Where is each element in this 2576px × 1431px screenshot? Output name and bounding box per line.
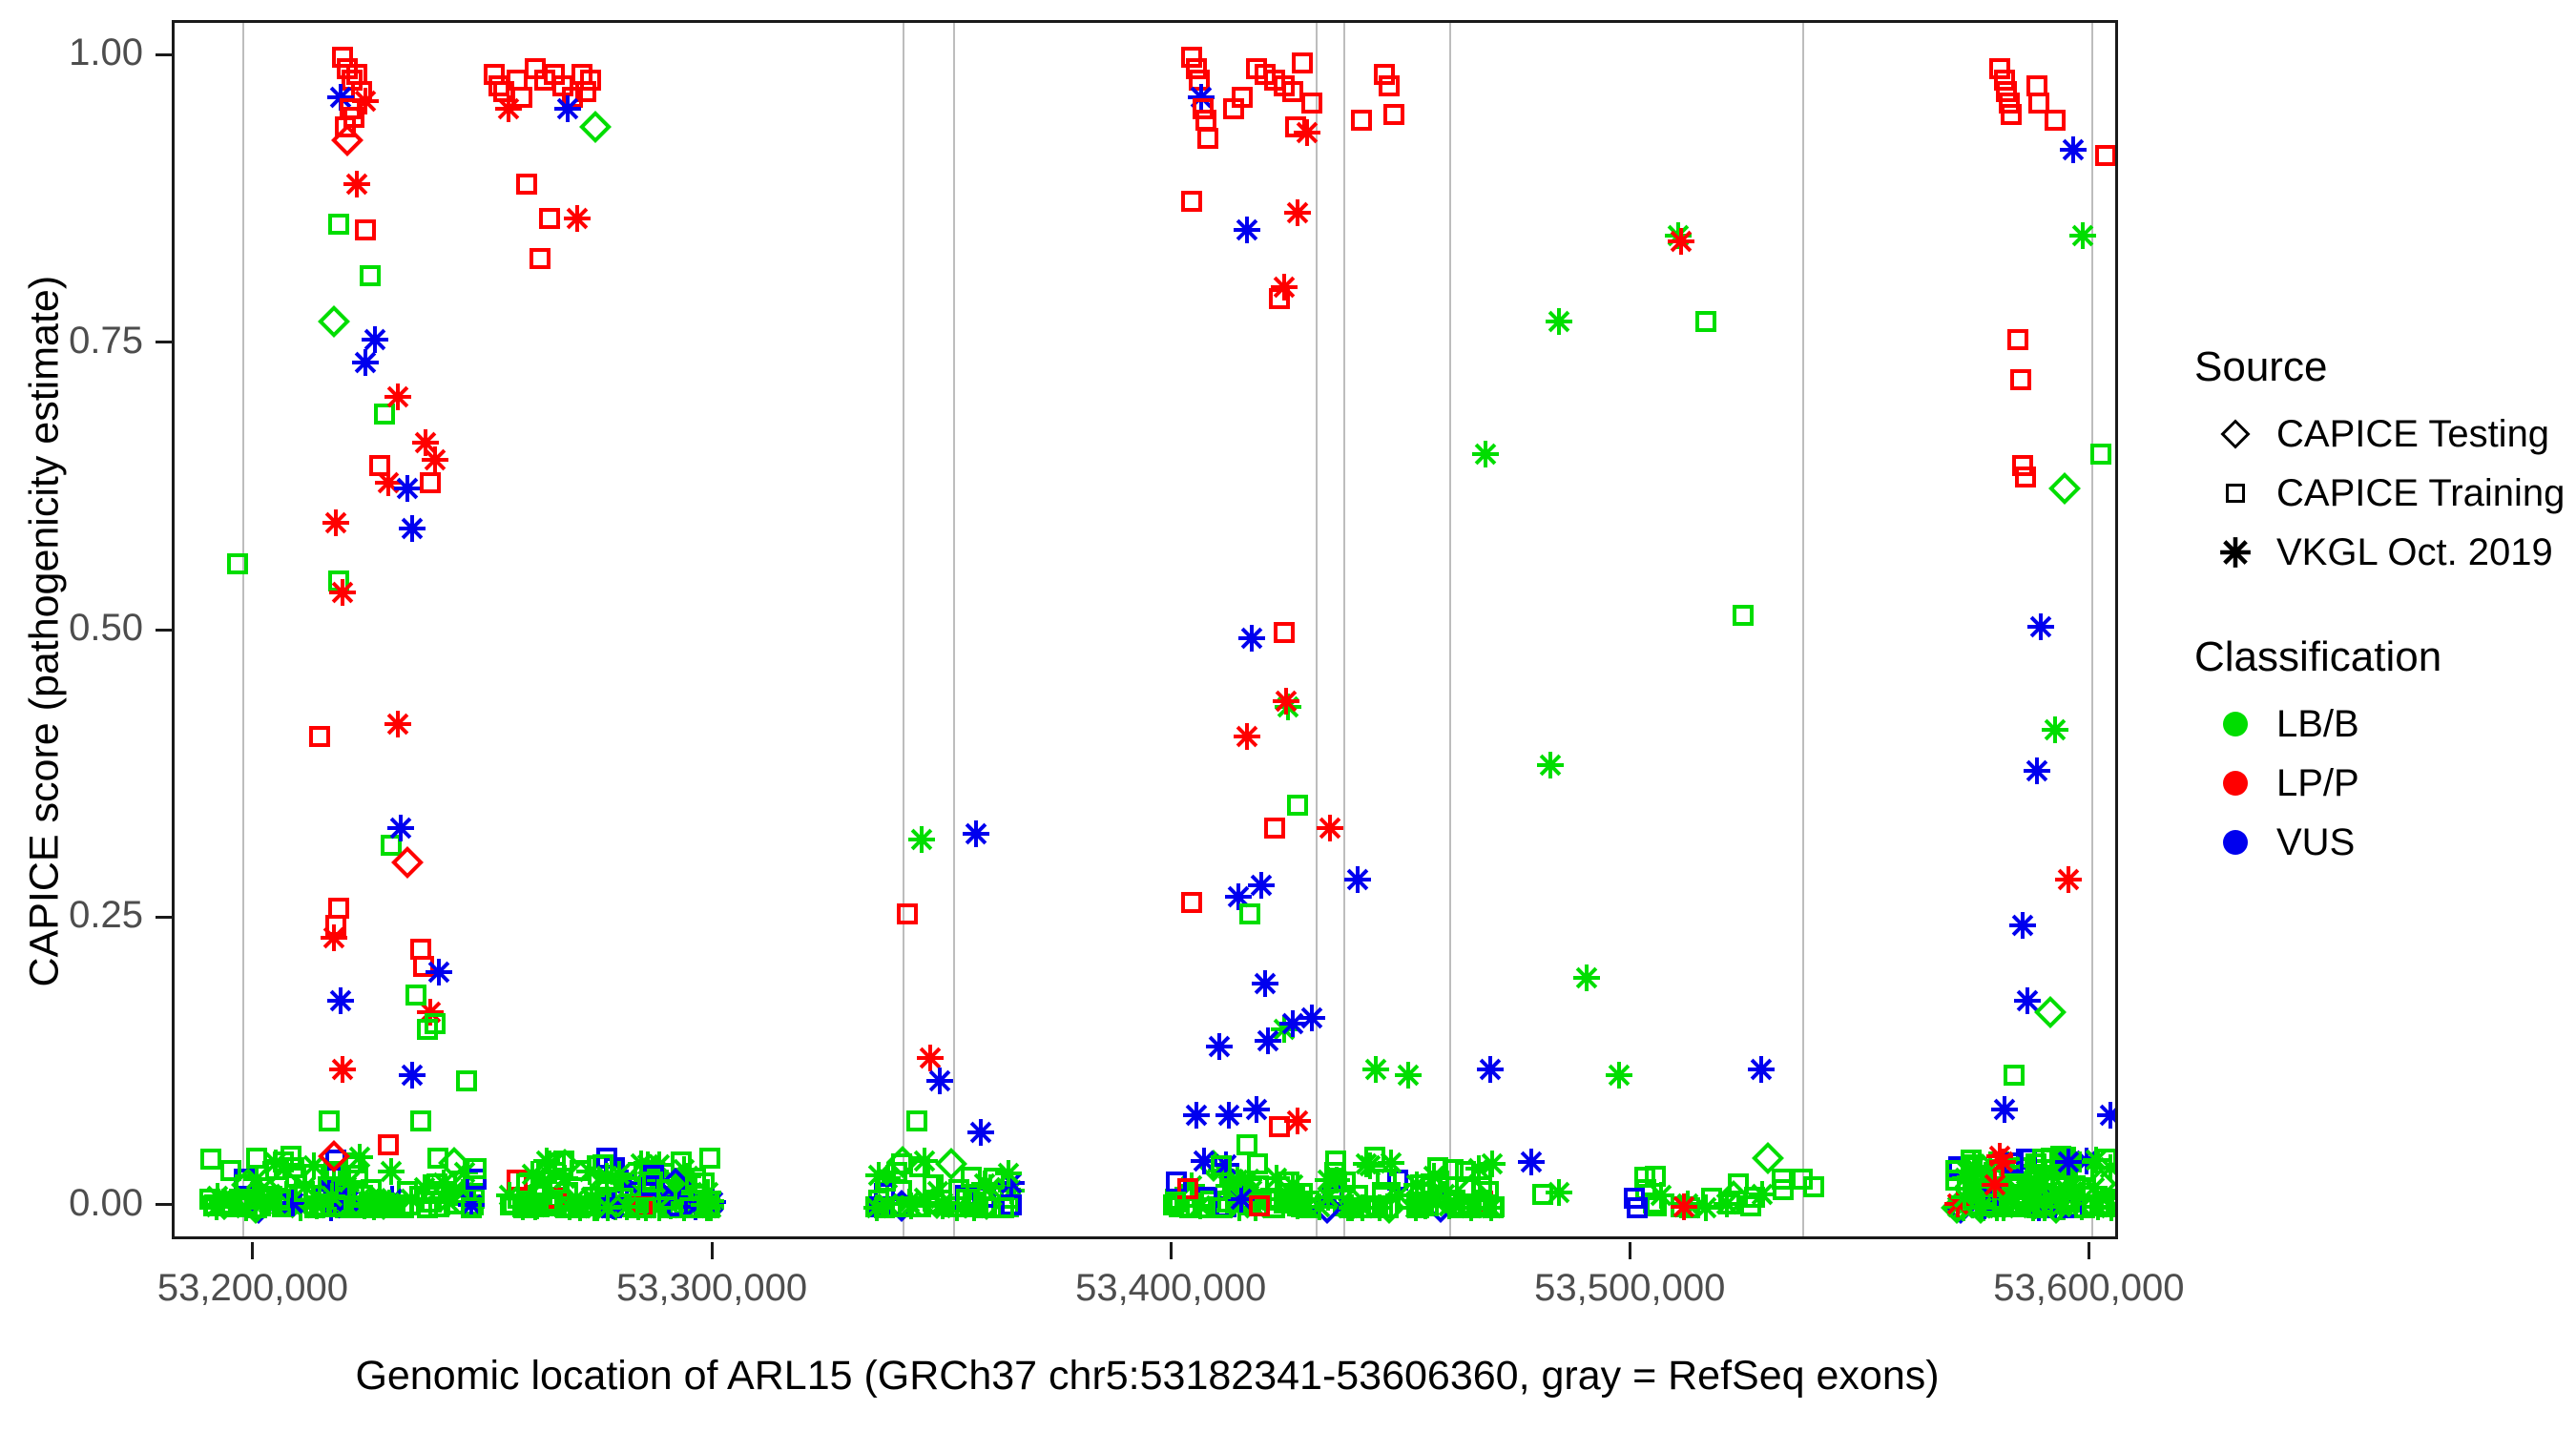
- data-point-baseline: [1948, 1156, 1969, 1177]
- y-tick: [156, 1203, 172, 1206]
- data-point-baseline: [220, 1160, 241, 1181]
- legend-label: LP/P: [2276, 762, 2359, 805]
- data-point-baseline: [273, 1151, 294, 1172]
- data-point: [1545, 307, 1573, 336]
- data-point-baseline: [1961, 1150, 1982, 1171]
- data-point-baseline: [1190, 1147, 1218, 1175]
- data-point-baseline: [1950, 1183, 1979, 1212]
- data-point: [2096, 1101, 2115, 1130]
- data-point-baseline: [1337, 1188, 1369, 1220]
- data-point: [1351, 110, 1372, 131]
- data-point-baseline: [624, 1192, 653, 1221]
- data-point: [361, 325, 389, 354]
- data-point-baseline: [643, 1165, 664, 1186]
- data-point-baseline: [318, 1176, 339, 1197]
- y-tick: [156, 629, 172, 632]
- data-point-baseline: [665, 1179, 694, 1208]
- data-point: [563, 204, 592, 233]
- data-point-baseline: [632, 1196, 653, 1217]
- data-point-baseline: [517, 1196, 538, 1217]
- data-point-baseline: [2055, 1147, 2076, 1168]
- data-point: [2023, 757, 2051, 785]
- data-point-baseline: [384, 1195, 405, 1216]
- data-point-baseline: [1962, 1154, 1983, 1175]
- exon-line: [1343, 23, 1345, 1236]
- legend-item-capice-training[interactable]: CAPICE Training: [2194, 464, 2566, 523]
- data-point-baseline: [671, 1151, 692, 1172]
- data-point-baseline: [596, 1180, 617, 1201]
- data-point-baseline: [315, 1175, 343, 1204]
- data-point-baseline: [255, 1189, 283, 1217]
- data-point-baseline: [629, 1196, 650, 1217]
- data-point-baseline: [924, 1177, 952, 1206]
- data-point-baseline: [1241, 1193, 1270, 1222]
- data-point-baseline: [1378, 1197, 1399, 1218]
- data-point-baseline: [341, 1188, 369, 1216]
- data-point-baseline: [1291, 1196, 1312, 1217]
- data-point-baseline: [509, 1192, 537, 1221]
- data-point-baseline: [670, 1193, 698, 1222]
- data-point-baseline: [1347, 1185, 1368, 1206]
- x-tick-label: 53,500,000: [1534, 1267, 1725, 1310]
- data-point-baseline: [1455, 1174, 1487, 1207]
- data-point-baseline: [410, 1173, 439, 1202]
- data-point: [552, 75, 573, 96]
- data-point: [374, 468, 403, 497]
- data-point-baseline: [1364, 1147, 1385, 1168]
- legend-item-vus[interactable]: VUS: [2194, 813, 2566, 872]
- data-point-baseline: [562, 1184, 591, 1213]
- data-point: [579, 111, 612, 143]
- data-point-baseline: [864, 1161, 893, 1190]
- data-point-baseline: [397, 1185, 426, 1213]
- data-point: [1272, 687, 1300, 715]
- data-point-baseline: [426, 1173, 447, 1194]
- data-point: [351, 87, 380, 115]
- data-point-baseline: [335, 1168, 364, 1196]
- data-point-baseline: [1289, 1193, 1310, 1214]
- data-point: [1247, 871, 1276, 900]
- data-point-baseline: [427, 1148, 448, 1169]
- data-point-baseline: [1352, 1150, 1381, 1178]
- exon-line: [1316, 23, 1318, 1236]
- data-point: [1193, 98, 1214, 119]
- data-point-baseline: [970, 1170, 999, 1198]
- data-point-baseline: [302, 1192, 331, 1220]
- data-point-baseline: [1966, 1153, 1999, 1186]
- data-point: [962, 819, 990, 848]
- data-point-baseline: [1216, 1192, 1237, 1213]
- data-point-baseline: [381, 1196, 402, 1217]
- data-point-baseline: [1673, 1190, 1702, 1218]
- data-point: [626, 1197, 647, 1218]
- data-point-baseline: [1207, 1156, 1236, 1185]
- data-point-baseline: [1169, 1196, 1190, 1217]
- data-point-baseline: [2035, 1183, 2056, 1204]
- data-point-baseline: [2038, 1189, 2067, 1217]
- data-point-baseline: [464, 1183, 485, 1204]
- data-point: [2048, 472, 2081, 505]
- data-point: [1989, 58, 2010, 79]
- data-point-baseline: [2024, 1188, 2052, 1216]
- data-point-baseline: [2026, 1197, 2047, 1218]
- data-point-baseline: [645, 1192, 674, 1221]
- data-point-baseline: [1941, 1192, 1973, 1224]
- data-point-baseline: [332, 1172, 361, 1201]
- data-point-baseline: [1772, 1169, 1793, 1190]
- data-point-baseline: [1643, 1192, 1664, 1213]
- data-point-baseline: [1773, 1179, 1794, 1200]
- data-point-baseline: [304, 1197, 325, 1218]
- data-point-baseline: [1748, 1180, 1776, 1209]
- data-point-baseline: [518, 1160, 547, 1189]
- data-point-baseline: [698, 1188, 727, 1216]
- x-tick: [1629, 1242, 1631, 1259]
- data-point: [340, 98, 361, 119]
- data-point-baseline: [1740, 1195, 1761, 1216]
- data-point-baseline: [503, 1193, 524, 1214]
- data-point-baseline: [1373, 1192, 1405, 1224]
- data-point: [325, 915, 346, 936]
- data-point-baseline: [371, 1197, 392, 1218]
- data-point-baseline: [279, 1189, 307, 1217]
- data-point: [416, 998, 445, 1027]
- data-point-baseline: [375, 1189, 404, 1217]
- data-point-baseline: [1422, 1176, 1443, 1197]
- data-point-baseline: [2053, 1151, 2074, 1172]
- data-point-baseline: [699, 1196, 720, 1217]
- data-point-baseline: [1476, 1194, 1497, 1215]
- data-point-baseline: [642, 1172, 663, 1192]
- legend-item-vkgl-oct-2019[interactable]: VKGL Oct. 2019: [2194, 523, 2566, 582]
- x-tick-label: 53,600,000: [1993, 1267, 2184, 1310]
- data-point: [398, 1061, 426, 1089]
- data-point-baseline: [2030, 1193, 2059, 1222]
- data-point-baseline: [1967, 1193, 1996, 1222]
- data-point-baseline: [923, 1174, 944, 1195]
- data-point: [484, 64, 505, 85]
- data-point-baseline: [1679, 1197, 1700, 1218]
- data-point: [1287, 795, 1308, 816]
- data-point: [331, 124, 364, 156]
- data-point-baseline: [1484, 1196, 1505, 1217]
- data-point-baseline: [1334, 1193, 1362, 1222]
- data-point-baseline: [2057, 1154, 2078, 1175]
- data-point: [1181, 892, 1202, 913]
- data-point-baseline: [1338, 1193, 1366, 1222]
- data-point-baseline: [2020, 1187, 2052, 1219]
- data-point: [425, 958, 453, 986]
- data-point-baseline: [2020, 1192, 2048, 1220]
- data-point: [328, 898, 349, 919]
- data-point-baseline: [1240, 1191, 1261, 1212]
- data-point: [411, 428, 440, 457]
- data-point-baseline: [955, 1185, 976, 1206]
- data-point-baseline: [378, 1185, 406, 1213]
- data-point-baseline: [1984, 1196, 2005, 1217]
- data-point: [1181, 47, 1202, 68]
- data-point-baseline: [1410, 1174, 1431, 1195]
- legend-title-classification: Classification: [2194, 633, 2566, 681]
- data-point-baseline: [548, 1187, 569, 1208]
- data-point: [405, 985, 426, 1006]
- data-point-baseline: [438, 1147, 470, 1179]
- data-point-baseline: [873, 1164, 902, 1192]
- data-point-baseline: [580, 1195, 601, 1216]
- data-point-baseline: [326, 1196, 347, 1217]
- data-point: [1270, 273, 1298, 301]
- data-point-baseline: [272, 1196, 293, 1217]
- data-point-baseline: [1627, 1197, 1648, 1218]
- data-point-baseline: [1249, 1195, 1270, 1216]
- data-point-baseline: [997, 1176, 1026, 1205]
- data-point: [2010, 369, 2031, 390]
- data-point-baseline: [424, 1183, 445, 1204]
- data-point-baseline: [526, 1195, 547, 1216]
- data-point-baseline: [2025, 1159, 2046, 1180]
- data-point-baseline: [2065, 1175, 2086, 1196]
- data-point-baseline: [448, 1178, 477, 1207]
- data-point-baseline: [1413, 1195, 1434, 1216]
- data-point-baseline: [261, 1186, 282, 1207]
- data-point-baseline: [1165, 1189, 1186, 1210]
- data-point: [507, 70, 528, 91]
- data-point-baseline: [549, 1172, 570, 1193]
- data-point-baseline: [895, 1188, 924, 1216]
- data-point-baseline: [661, 1197, 682, 1218]
- data-point-baseline: [384, 1196, 405, 1217]
- data-point-baseline: [208, 1188, 240, 1220]
- data-point-baseline: [1222, 1170, 1243, 1191]
- data-point-baseline: [626, 1195, 647, 1216]
- data-point-baseline: [1458, 1197, 1479, 1218]
- data-point-baseline: [215, 1195, 236, 1216]
- data-point-baseline: [1278, 1171, 1307, 1199]
- data-point-baseline: [530, 1167, 558, 1195]
- data-point-baseline: [613, 1169, 641, 1197]
- data-point-baseline: [1402, 1193, 1430, 1222]
- data-point-baseline: [1975, 1185, 1996, 1206]
- data-point: [1255, 64, 1276, 85]
- data-point-baseline: [891, 1180, 912, 1201]
- legend-item-lb-b[interactable]: LB/B: [2194, 695, 2566, 754]
- data-point-baseline: [1988, 1151, 2009, 1172]
- data-point: [580, 70, 601, 91]
- data-point-baseline: [966, 1194, 987, 1215]
- plot-area: [175, 23, 2115, 1236]
- data-point-baseline: [2036, 1197, 2057, 1218]
- data-point-baseline: [1196, 1187, 1217, 1208]
- data-point-baseline: [272, 1180, 301, 1209]
- data-point: [1605, 1061, 1633, 1089]
- data-point-baseline: [291, 1172, 320, 1201]
- data-point-baseline: [317, 1190, 345, 1218]
- data-point-baseline: [1998, 1184, 2030, 1216]
- data-point: [420, 472, 441, 493]
- data-point-baseline: [696, 1193, 725, 1222]
- data-point-baseline: [317, 1193, 345, 1222]
- data-point: [494, 94, 523, 123]
- data-point-baseline: [334, 1187, 363, 1215]
- data-point: [1285, 116, 1306, 137]
- data-point-baseline: [283, 1157, 304, 1178]
- data-point: [534, 70, 555, 91]
- data-point-baseline: [594, 1191, 615, 1212]
- data-point: [1301, 93, 1322, 114]
- data-point: [1990, 1095, 2019, 1124]
- data-point: [2028, 93, 2049, 114]
- data-point-baseline: [1945, 1170, 1966, 1191]
- data-point: [1999, 93, 2020, 114]
- data-point-baseline: [2024, 1182, 2056, 1214]
- legend-item-capice-testing[interactable]: CAPICE Testing: [2194, 404, 2566, 464]
- data-point-baseline: [2061, 1151, 2082, 1172]
- legend-title-source: Source: [2194, 343, 2566, 391]
- data-point-baseline: [441, 1175, 469, 1204]
- data-point-baseline: [464, 1188, 485, 1209]
- data-point-baseline: [975, 1187, 996, 1208]
- data-point: [2013, 986, 2042, 1015]
- data-point-baseline: [1177, 1178, 1198, 1199]
- data-point: [544, 64, 565, 85]
- data-point: [907, 825, 936, 854]
- data-point: [1664, 221, 1693, 250]
- data-point-baseline: [346, 1191, 375, 1219]
- data-point-baseline: [397, 1181, 418, 1202]
- exon-line: [1449, 23, 1451, 1236]
- data-point-baseline: [685, 1172, 706, 1193]
- data-point-baseline: [1230, 1176, 1251, 1197]
- data-point-baseline: [1411, 1194, 1432, 1215]
- data-point: [425, 1013, 446, 1034]
- data-point-baseline: [874, 1197, 895, 1218]
- data-point-baseline: [675, 1185, 696, 1206]
- data-point: [342, 70, 363, 91]
- data-point-baseline: [2010, 1196, 2031, 1217]
- data-point-baseline: [2019, 1193, 2047, 1222]
- data-point-baseline: [1165, 1192, 1186, 1213]
- data-point-baseline: [1322, 1185, 1343, 1206]
- data-point-baseline: [601, 1197, 622, 1218]
- data-point: [227, 553, 248, 574]
- data-point-baseline: [566, 1193, 594, 1222]
- data-point-baseline: [1193, 1197, 1214, 1218]
- legend-label: VKGL Oct. 2019: [2276, 531, 2553, 574]
- data-point-baseline: [1963, 1167, 1984, 1188]
- data-point-baseline: [1477, 1193, 1506, 1222]
- data-point-baseline: [522, 1196, 543, 1217]
- data-point-baseline: [674, 1162, 702, 1191]
- data-point-baseline: [229, 1189, 250, 1210]
- legend-label: CAPICE Testing: [2276, 413, 2549, 456]
- x-tick: [251, 1242, 254, 1259]
- data-point-baseline: [2012, 1176, 2041, 1205]
- data-point-baseline: [1963, 1187, 1991, 1215]
- data-point-baseline: [1670, 1192, 1698, 1221]
- data-point-baseline: [1719, 1193, 1740, 1214]
- data-point-baseline: [1406, 1191, 1435, 1219]
- data-point: [916, 1044, 945, 1072]
- data-point-baseline: [1277, 1184, 1305, 1213]
- data-point-baseline: [325, 1161, 346, 1182]
- data-point-baseline: [1993, 1165, 2022, 1193]
- data-point-baseline: [321, 1165, 342, 1186]
- data-point-baseline: [551, 1164, 579, 1192]
- data-point-baseline: [334, 1186, 355, 1207]
- data-point: [410, 939, 431, 960]
- data-point-baseline: [635, 1197, 656, 1218]
- data-point: [1394, 1061, 1423, 1089]
- data-point-baseline: [360, 1192, 388, 1221]
- data-point-baseline: [361, 1179, 382, 1200]
- data-point-baseline: [557, 1182, 578, 1203]
- data-point-baseline: [1545, 1178, 1573, 1207]
- data-point: [2095, 145, 2115, 166]
- legend-item-lp-p[interactable]: LP/P: [2194, 754, 2566, 813]
- data-point-baseline: [583, 1193, 612, 1222]
- data-point-baseline: [1970, 1192, 1999, 1220]
- data-point: [391, 846, 424, 879]
- data-point-baseline: [1350, 1197, 1371, 1218]
- data-point: [2007, 329, 2028, 350]
- data-point: [493, 81, 514, 102]
- data-point-baseline: [670, 1155, 698, 1184]
- data-point-baseline: [698, 1197, 719, 1218]
- data-point-baseline: [1472, 1191, 1493, 1212]
- data-point: [1270, 1015, 1298, 1044]
- data-point-baseline: [246, 1148, 267, 1169]
- data-point-baseline: [2063, 1192, 2084, 1213]
- data-point-baseline: [1323, 1178, 1344, 1199]
- data-point-baseline: [699, 1148, 720, 1169]
- data-point-baseline: [1532, 1184, 1553, 1205]
- data-point-baseline: [1215, 1196, 1236, 1217]
- data-point-baseline: [645, 1151, 674, 1179]
- data-point: [516, 174, 537, 195]
- data-point: [2026, 612, 2055, 641]
- x-tick: [711, 1242, 714, 1259]
- data-point-baseline: [1978, 1183, 2006, 1212]
- data-point: [1205, 1032, 1234, 1061]
- data-point-baseline: [549, 1149, 581, 1181]
- data-point: [925, 1067, 954, 1095]
- data-point-baseline: [344, 1152, 365, 1173]
- data-point-baseline: [352, 1185, 373, 1206]
- data-point: [318, 1140, 350, 1172]
- data-point-baseline: [675, 1179, 704, 1208]
- data-point: [328, 578, 357, 607]
- data-point-baseline: [1367, 1195, 1388, 1216]
- data-point-baseline: [961, 1167, 982, 1188]
- data-point: [381, 835, 402, 856]
- data-point-baseline: [536, 1163, 557, 1184]
- data-point-baseline: [203, 1195, 224, 1216]
- data-point-baseline: [2037, 1185, 2066, 1213]
- data-point: [511, 87, 532, 108]
- data-point-baseline: [657, 1173, 678, 1194]
- data-point-baseline: [638, 1175, 659, 1196]
- data-point-baseline: [689, 1192, 710, 1213]
- plot-panel: [172, 20, 2118, 1239]
- data-point-baseline: [1966, 1193, 1995, 1222]
- data-point-baseline: [1284, 1187, 1305, 1208]
- data-point: [360, 265, 381, 286]
- data-point-baseline: [399, 1194, 420, 1215]
- data-point-baseline: [1365, 1193, 1394, 1222]
- data-point-baseline: [2025, 1193, 2053, 1222]
- data-point-baseline: [1455, 1161, 1476, 1182]
- data-point-baseline: [1999, 1196, 2020, 1217]
